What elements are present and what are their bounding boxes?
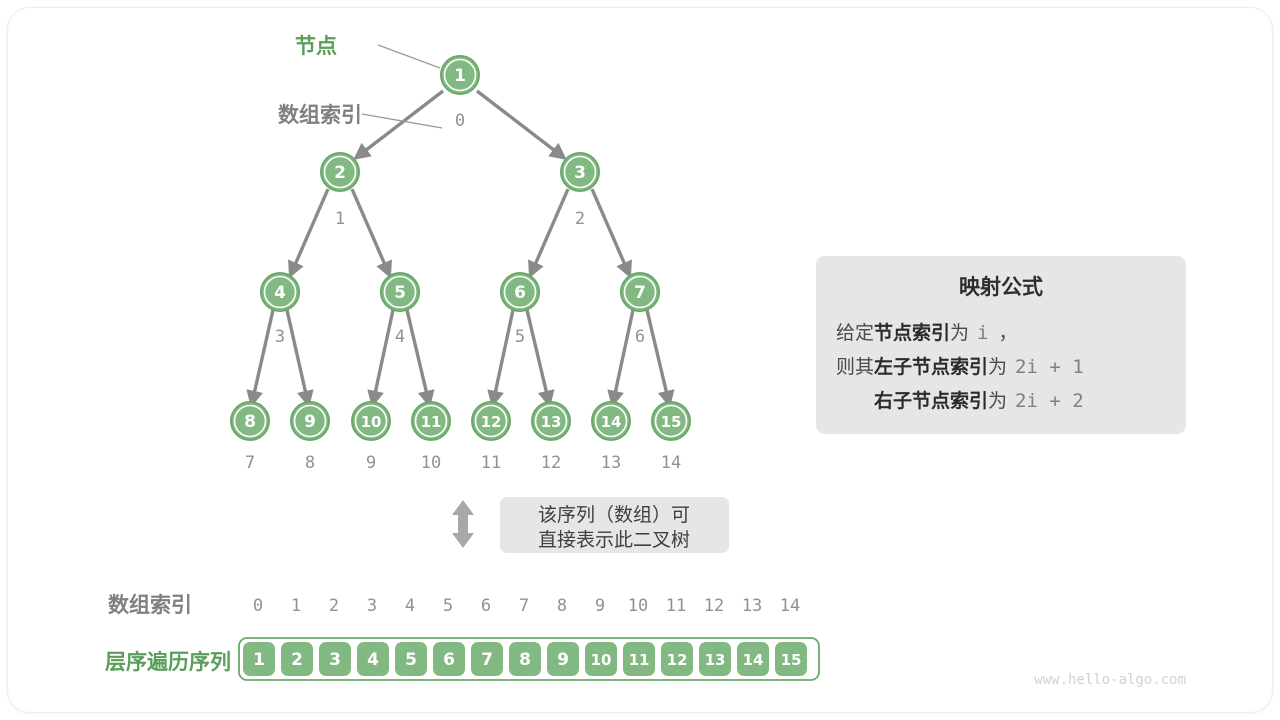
formula-l3-mono: 2i + 2 [1015,390,1084,412]
array-index-row: 0 1 2 3 4 5 6 7 8 9 10 11 12 13 14 [253,596,800,616]
array-cell[interactable]: 10 [585,642,617,676]
annotation-leaders [362,45,442,128]
array-index-cell: 7 [519,596,529,616]
tree-node-index: 12 [541,453,561,473]
tree-node[interactable]: 2 [321,153,359,191]
tree-node-index: 5 [515,327,525,347]
formula-l2-b: 左子节点索引 [874,355,988,378]
level-order-row-label: 层序遍历序列 [105,650,231,674]
tree-node-value: 5 [394,283,406,303]
array-cell[interactable]: 11 [623,642,655,676]
tree-node[interactable]: 5 [381,273,419,311]
array-cell-value: 12 [667,651,688,669]
formula-l1-a: 给定 [836,322,874,344]
array-cell-value: 4 [367,650,379,670]
mapping-formula-panel: 映射公式 给定节点索引为i， 则其左子节点索引为2i + 1 右子节点索引为2i… [816,256,1186,434]
tree-node[interactable]: 6 [501,273,539,311]
array-index-cell: 9 [595,596,605,616]
tree-node[interactable]: 15 [652,402,690,440]
array-cell[interactable]: 3 [319,642,351,676]
node-annotation-label: 节点 [295,34,337,58]
tree-node[interactable]: 7 [621,273,659,311]
formula-l3-c: 为 [988,390,1007,412]
callout-line-1: 该序列（数组）可 [538,504,690,526]
array-cell[interactable]: 7 [471,642,503,676]
tree-node-value: 14 [601,413,622,431]
tree-node-value: 12 [481,413,502,431]
tree-node[interactable]: 14 [592,402,630,440]
tree-node[interactable]: 13 [532,402,570,440]
tree-node[interactable]: 10 [352,402,390,440]
tree-node[interactable]: 3 [561,153,599,191]
array-index-annotation-label: 数组索引 [278,103,362,127]
array-cell-value: 1 [253,650,265,670]
tree-node[interactable]: 4 [261,273,299,311]
array-cell-value: 8 [519,650,531,670]
tree-node-index: 13 [601,453,621,473]
tree-node-index: 11 [481,453,501,473]
tree-node-value: 2 [334,163,346,183]
formula-l3-b: 右子节点索引 [873,389,988,412]
tree-node-index: 9 [366,453,376,473]
tree-node-index: 3 [275,327,285,347]
array-cell-value: 5 [405,650,417,670]
formula-panel-title: 映射公式 [959,275,1043,299]
tree-node[interactable]: 9 [291,402,329,440]
watermark-text: www.hello-algo.com [1034,672,1186,688]
tree-node-index: 1 [335,209,345,229]
array-cell-value: 11 [629,651,650,669]
array-cell[interactable]: 13 [699,642,731,676]
tree-node-value: 8 [244,412,256,432]
formula-line-3: 右子节点索引为2i + 2 [873,389,1084,412]
array-index-row-label: 数组索引 [108,593,192,617]
array-cell-value: 7 [481,650,493,670]
array-cell[interactable]: 2 [281,642,313,676]
tree-node[interactable]: 1 [441,56,479,94]
tree-node-index: 0 [455,111,465,131]
formula-l2-c: 为 [988,356,1007,378]
array-cell[interactable]: 15 [775,642,807,676]
array-index-cell: 5 [443,596,453,616]
up-down-arrow-icon [452,500,474,548]
array-cell[interactable]: 14 [737,642,769,676]
callout-box: 该序列（数组）可 直接表示此二叉树 [500,497,729,553]
figure-canvas: 节点 数组索引 1 0 2 1 3 2 4 3 [0,0,1280,720]
array-cell[interactable]: 1 [243,642,275,676]
array-cell[interactable]: 5 [395,642,427,676]
tree-node[interactable]: 12 [472,402,510,440]
array-cell[interactable]: 9 [547,642,579,676]
tree-node-value: 7 [634,283,646,303]
formula-l1-d: ， [999,322,1018,344]
formula-l1-mono: i [977,322,988,344]
formula-l2-a: 则其 [836,356,874,378]
array-value-row: 1 2 3 4 5 6 7 [243,642,807,676]
callout-line-2: 直接表示此二叉树 [538,529,690,551]
formula-l2-mono: 2i + 1 [1015,356,1084,378]
formula-l1-b: 节点索引 [874,321,950,344]
tree-node-value: 6 [514,283,526,303]
array-index-cell: 8 [557,596,567,616]
tree-node-value: 3 [574,163,586,183]
tree-node-index: 8 [305,453,315,473]
tree-node-index: 7 [245,453,255,473]
tree-node-value: 11 [421,413,442,431]
tree-node-value: 9 [304,412,316,432]
tree-node-index: 2 [575,209,585,229]
tree-node-value: 4 [274,283,286,303]
array-cell-value: 15 [781,651,802,669]
tree-node-index: 10 [421,453,441,473]
array-index-cell: 6 [481,596,491,616]
tree-node[interactable]: 11 [412,402,450,440]
array-index-cell: 14 [780,596,800,616]
array-index-cell: 4 [405,596,415,616]
formula-line-2: 则其左子节点索引为2i + 1 [836,355,1084,378]
array-cell-value: 3 [329,650,341,670]
formula-l1-c: 为 [950,322,969,344]
array-cell[interactable]: 4 [357,642,389,676]
array-index-cell: 0 [253,596,263,616]
array-cell-value: 2 [291,650,303,670]
tree-node-value: 10 [361,413,382,431]
tree-node-index: 14 [661,453,681,473]
array-cell-value: 13 [705,651,726,669]
tree-node-index: 4 [395,327,405,347]
array-index-cell: 10 [628,596,648,616]
array-cell[interactable]: 6 [433,642,465,676]
tree-edges [252,91,669,403]
array-cell[interactable]: 8 [509,642,541,676]
tree-node-index: 6 [635,327,645,347]
tree-node-value: 13 [541,413,562,431]
array-cell-value: 10 [591,651,612,669]
binary-tree-array-diagram: 节点 数组索引 1 0 2 1 3 2 4 3 [0,0,1280,720]
array-index-cell: 2 [329,596,339,616]
tree-node-value: 15 [661,413,682,431]
array-index-cell: 12 [704,596,724,616]
array-cell-value: 6 [443,650,455,670]
tree-node[interactable]: 8 [231,402,269,440]
array-index-cell: 11 [666,596,686,616]
array-cell[interactable]: 12 [661,642,693,676]
array-index-cell: 13 [742,596,762,616]
tree-node-value: 1 [454,66,466,86]
array-cell-value: 9 [557,650,569,670]
array-index-cell: 1 [291,596,301,616]
array-cell-value: 14 [743,651,764,669]
array-index-cell: 3 [367,596,377,616]
